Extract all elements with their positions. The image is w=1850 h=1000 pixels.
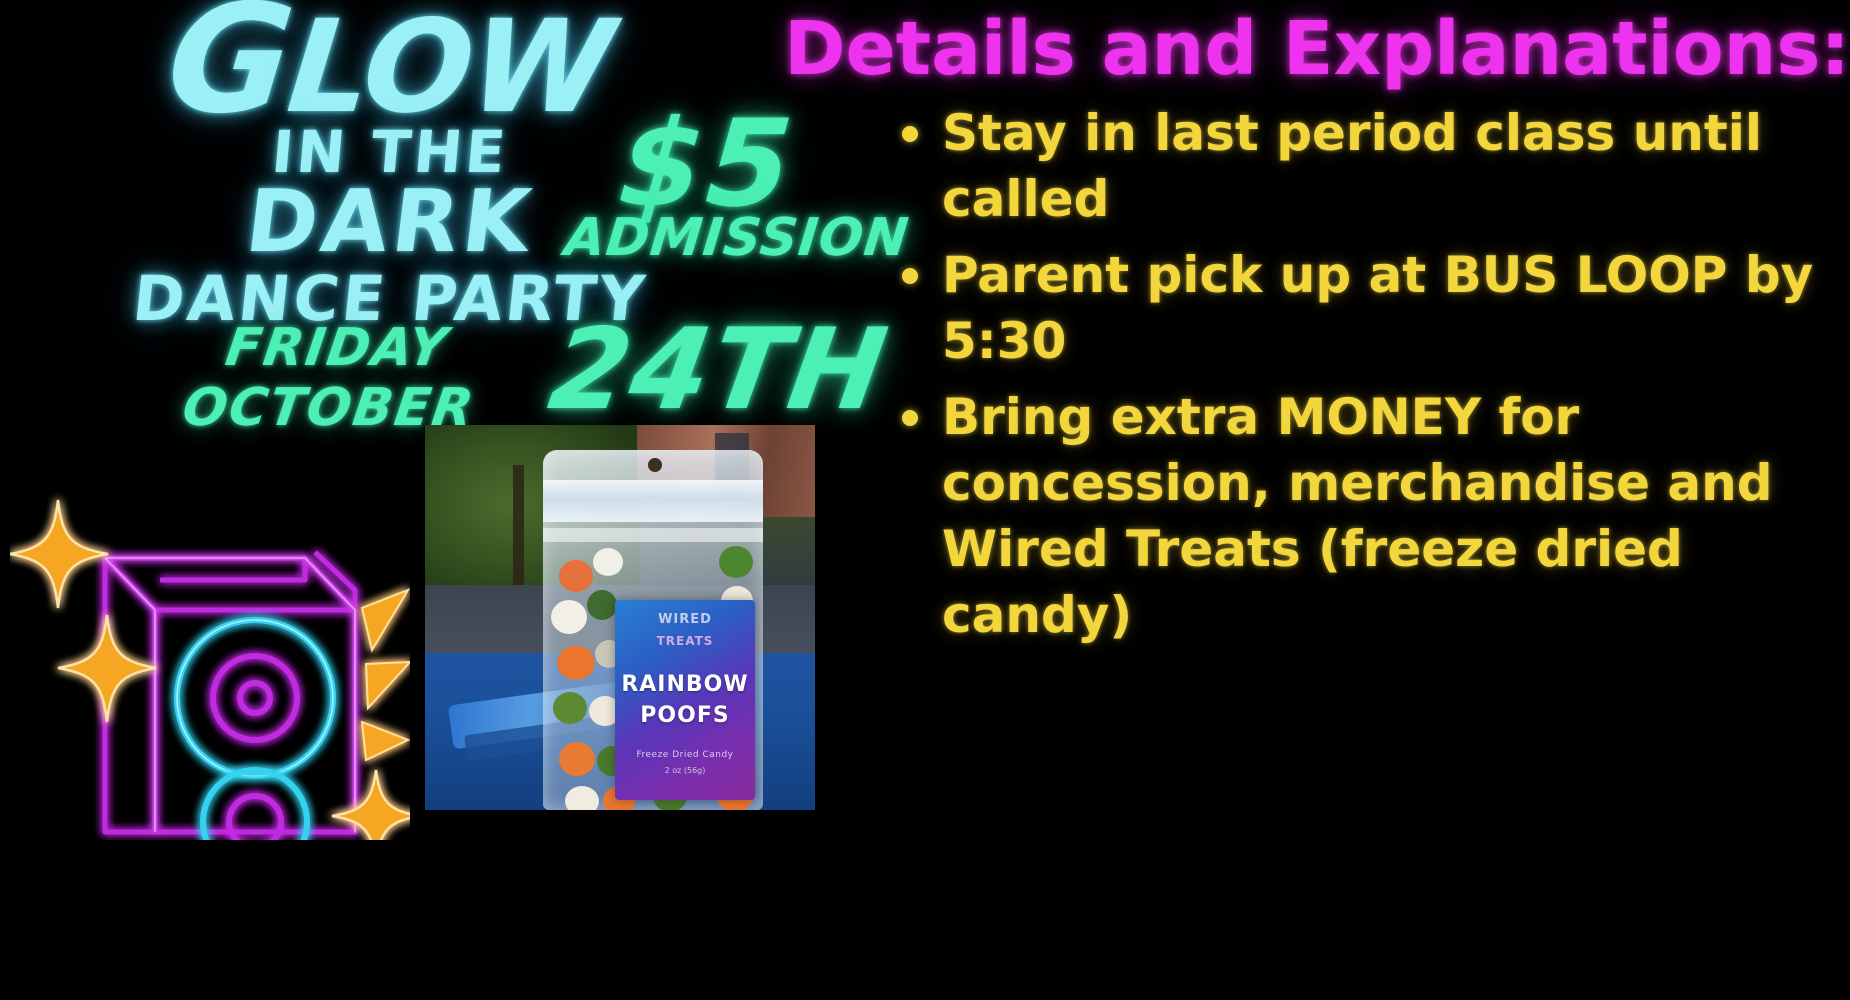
candy-piece (593, 548, 623, 576)
label-brand-line2: TREATS (615, 634, 755, 648)
candy-piece (559, 560, 593, 592)
pouch-zipper (543, 480, 763, 522)
list-item: Stay in last period class until called (880, 100, 1840, 232)
photo-tree-trunk (513, 465, 524, 585)
neon-speaker-icon (10, 440, 410, 840)
candy-piece (557, 646, 595, 680)
admission-label: ADMISSION (562, 208, 912, 268)
event-title-block: GLOW IN THE DARK DANCE PARTY (120, 0, 660, 329)
candy-piece (565, 786, 599, 810)
glow-dance-party-poster: GLOW IN THE DARK DANCE PARTY FRIDAY OCTO… (0, 0, 1850, 1000)
pouch-seal (543, 528, 763, 542)
pouch-hang-hole (648, 458, 662, 472)
list-item: Bring extra MONEY for concession, mercha… (880, 384, 1840, 648)
label-product-line1: RAINBOW (615, 672, 755, 697)
label-product-line2: POOFS (615, 703, 755, 728)
candy-piece (553, 692, 587, 724)
candy-piece (719, 546, 753, 578)
label-subtitle: Freeze Dried Candy (615, 750, 755, 760)
event-date-line: FRIDAY OCTOBER (110, 318, 557, 438)
list-item: Parent pick up at BUS LOOP by 5:30 (880, 242, 1840, 374)
candy-piece (587, 590, 617, 620)
title-glow: GLOW (113, 0, 668, 131)
candy-piece (559, 742, 595, 776)
label-brand-line1: WIRED (615, 612, 755, 627)
candy-piece (551, 600, 587, 634)
details-bullet-list: Stay in last period class until called P… (880, 100, 1840, 658)
product-label: WIRED TREATS RAINBOW POOFS Freeze Dried … (615, 600, 755, 800)
event-day-number: 24TH (542, 305, 897, 435)
label-net-weight: 2 oz (56g) (615, 766, 755, 775)
candy-product-photo: WIRED TREATS RAINBOW POOFS Freeze Dried … (425, 425, 815, 810)
candy-pouch: WIRED TREATS RAINBOW POOFS Freeze Dried … (543, 450, 763, 810)
details-header: Details and Explanations: (620, 6, 1850, 92)
